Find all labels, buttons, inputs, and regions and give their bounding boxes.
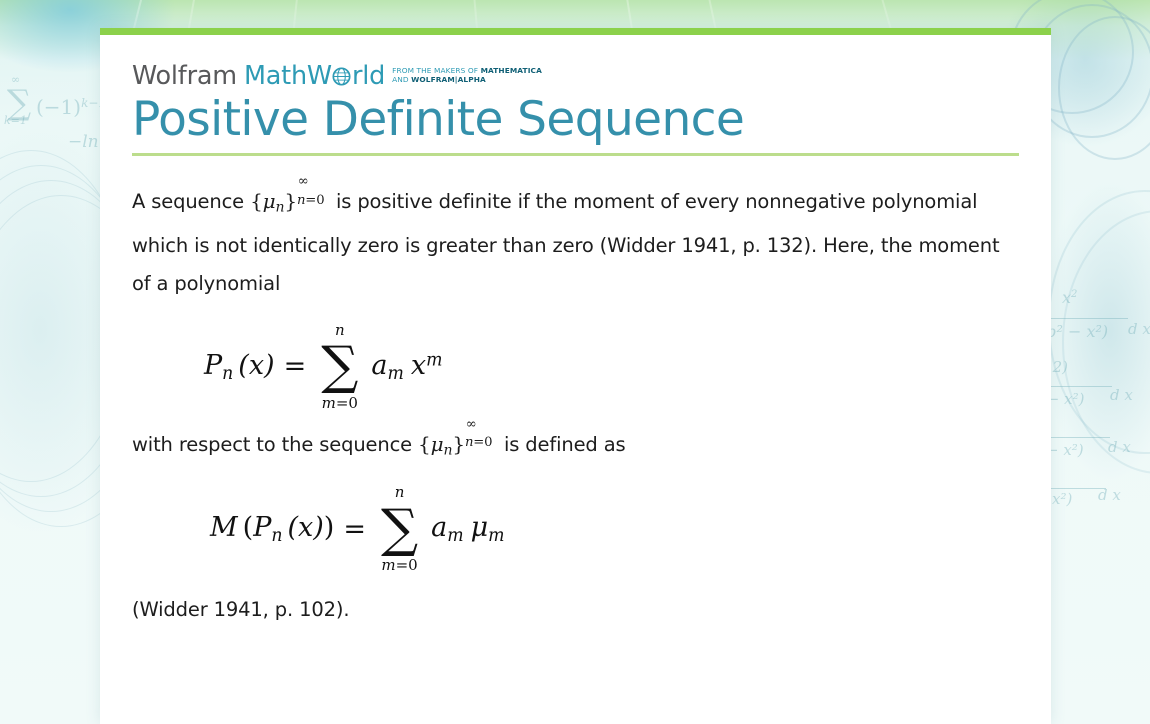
mu-symbol: μ	[263, 189, 276, 213]
logo-wolfram-text: Wolfram	[132, 64, 237, 90]
inline-math-sequence-2: {μn}∞n=0	[418, 432, 498, 456]
limit-upper: ∞	[298, 175, 309, 188]
tagline-line1: FROM THE MAKERS OF MATHEMATICA	[392, 66, 542, 75]
bg-r1-sup: 2	[1071, 289, 1077, 300]
logo-mathworld-text: MathWrld	[244, 64, 385, 90]
background-formula-right-1-num: x2	[1062, 288, 1077, 307]
background-formula-right-3-den: − x²)	[1046, 441, 1084, 459]
page-title: Positive Definite Sequence	[132, 91, 1019, 149]
limits-group: ∞n=0	[297, 188, 330, 208]
limits-group: ∞n=0	[465, 431, 498, 451]
eq1-sum-lower: m=0	[322, 395, 358, 412]
eq2-sum-lower: m=0	[381, 557, 417, 574]
tagline-line1-prefix: FROM THE MAKERS OF	[392, 66, 480, 75]
bg-r1-x: x	[1062, 288, 1071, 307]
limit-lower-eq: =0	[305, 193, 324, 208]
eq1-summation: n ∑ m=0	[321, 322, 358, 412]
eq1-a: a	[371, 350, 387, 381]
card-accent-bar	[100, 28, 1051, 35]
background-formula-right-2-dx: d x	[1110, 386, 1133, 404]
eq2-a: a	[431, 512, 447, 543]
eq2-M: M	[210, 512, 238, 543]
equation-1-lhs: Pn(x)	[204, 350, 275, 384]
eq2-equals: =	[343, 514, 366, 545]
brace-close: }	[452, 432, 465, 456]
eq1-P-subscript: n	[222, 363, 233, 383]
limit-lower-eq: =0	[473, 435, 492, 450]
eq1-equals: =	[284, 351, 307, 382]
background-formula-right-1-dx: d x	[1128, 320, 1150, 338]
eq2-P: P	[253, 512, 271, 543]
eq1-sum-lower-var: m	[322, 394, 336, 412]
equation-2-rhs: amμm	[431, 512, 504, 546]
background-formula-left-2: −ln	[68, 132, 99, 152]
equation-2-lhs: M(Pn(x))	[210, 512, 334, 546]
sigma-icon: ∑	[381, 501, 418, 558]
logo-mathworld-part2: rld	[352, 64, 385, 90]
title-divider	[132, 153, 1019, 156]
site-logo[interactable]: Wolfram MathWrld FROM THE MAKERS OF MATH…	[132, 57, 1019, 89]
limit-lower: n=0	[465, 436, 492, 449]
background-formula-right-4-dx: d x	[1098, 486, 1121, 504]
intro-text-part1: A sequence	[132, 190, 250, 213]
inline-math-sequence-1: {μn}∞n=0	[250, 189, 330, 213]
brace-open: {	[250, 189, 263, 213]
tagline-line2-prefix: AND	[392, 75, 411, 84]
eq2-P-subscript: n	[271, 526, 282, 546]
eq1-a-subscript: m	[387, 363, 403, 383]
background-formula-right-4-den: x²)	[1052, 490, 1072, 508]
background-formula-left: ∞ ∑ k=1 (−1)k−1	[2, 86, 106, 120]
eq1-argument: (x)	[238, 350, 274, 381]
tagline-line1-strong: MATHEMATICA	[481, 66, 542, 75]
background-formula-rule	[1042, 318, 1128, 320]
eq2-summation: n ∑ m=0	[381, 484, 418, 574]
article-card: Wolfram MathWrld FROM THE MAKERS OF MATH…	[100, 28, 1051, 724]
equation-1-rhs: amxm	[371, 350, 442, 384]
tagline-line2: AND WOLFRAM|ALPHA	[392, 75, 486, 84]
eq2-sum-lower-eq: =0	[396, 556, 418, 574]
eq2-mu-subscript: m	[488, 526, 504, 546]
eq2-argument: (x)	[288, 512, 324, 543]
bg-formula-body: (−1)	[36, 95, 81, 119]
globe-icon	[332, 66, 351, 85]
limit-lower: n=0	[297, 194, 324, 207]
brace-open: {	[418, 432, 431, 456]
middle-text-part1: with respect to the sequence	[132, 433, 418, 456]
mu-symbol: μ	[431, 432, 444, 456]
paragraph-citation: (Widder 1941, p. 102).	[132, 591, 1019, 629]
limit-upper: ∞	[466, 418, 477, 431]
tagline-line2-strong: WOLFRAM|ALPHA	[411, 75, 486, 84]
equation-moment: M(Pn(x)) = n ∑ m=0 amμm	[132, 481, 1019, 577]
background-formula-right-3-dx: d x	[1108, 438, 1131, 456]
sigma-icon: ∑	[321, 338, 358, 395]
logo-mathworld-part1: MathW	[244, 64, 332, 90]
eq1-sum-lower-eq: =0	[336, 394, 358, 412]
brace-close: }	[284, 189, 297, 213]
bg-sum-upper: ∞	[11, 73, 20, 86]
paragraph-middle: with respect to the sequence {μn}∞n=0 is…	[132, 425, 1019, 470]
eq2-a-subscript: m	[447, 526, 463, 546]
eq2-paren-open: (	[243, 512, 254, 543]
equation-polynomial: Pn(x) = n ∑ m=0 amxm	[132, 319, 1019, 415]
eq1-x: x	[411, 350, 426, 381]
eq1-x-exponent: m	[426, 350, 442, 370]
eq2-sum-lower-var: m	[381, 556, 395, 574]
logo-tagline: FROM THE MAKERS OF MATHEMATICA AND WOLFR…	[392, 66, 542, 89]
eq2-mu: μ	[471, 512, 489, 543]
bg-sum-lower: k=1	[4, 114, 27, 127]
paragraph-intro: A sequence {μn}∞n=0 is positive definite…	[132, 182, 1019, 303]
eq1-P: P	[204, 350, 222, 381]
eq2-paren-close: )	[324, 512, 335, 543]
middle-text-part2: is defined as	[498, 433, 626, 456]
